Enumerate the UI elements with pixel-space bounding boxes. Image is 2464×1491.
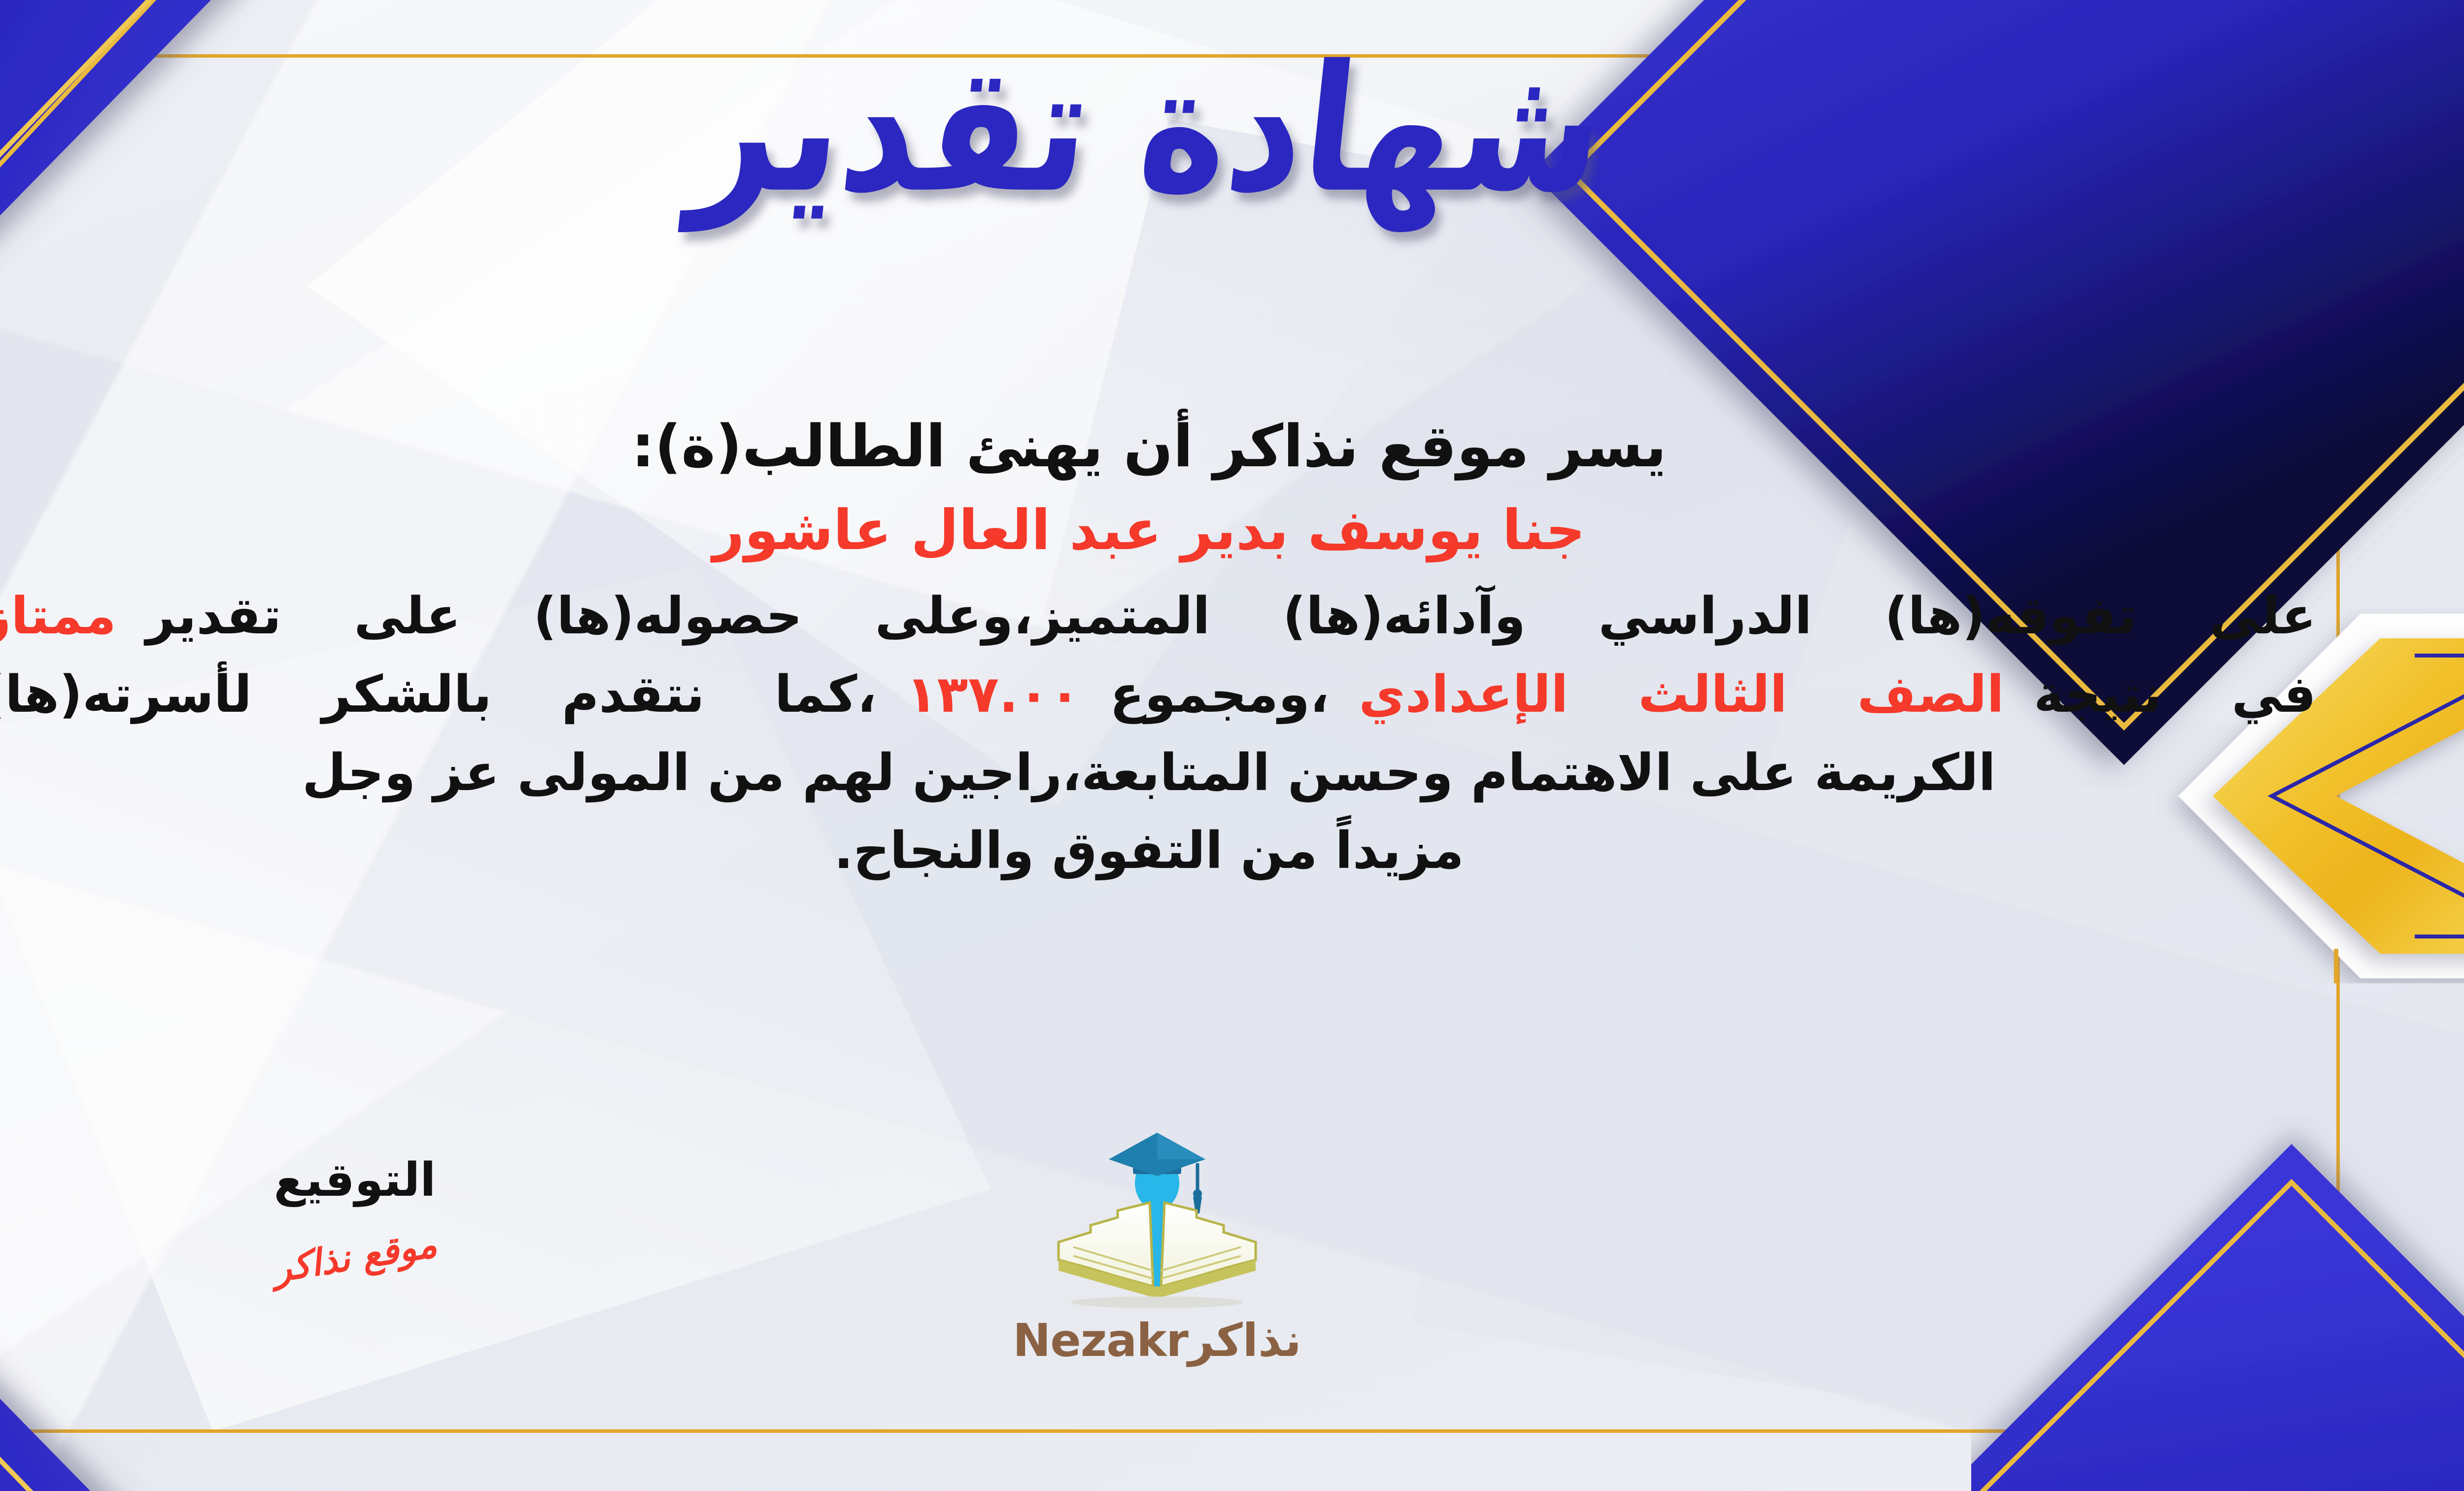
total-score: ١٣٧.٠٠: [906, 665, 1080, 724]
student-name: جنا يوسف بدير عبد العال عاشور: [0, 484, 2316, 577]
grade-label: ممتاز: [0, 587, 116, 646]
paragraph-text-2b: ،ومجموع: [1110, 665, 1329, 724]
paragraph-line-1: على تفوقه(ها) الدراسي وآدائه(ها) المتميز…: [0, 577, 2316, 656]
certificate-page: شهادة تقدير يسر موقع نذاكر أن يهنئ الطال…: [0, 0, 2464, 1491]
paragraph-text-1a: على تفوقه(ها) الدراسي وآدائه(ها) المتميز…: [146, 587, 2316, 646]
signature-label: التوقيع: [197, 1153, 513, 1207]
paragraph-line-2: في نتيجةالصف الثالث الإعدادي،ومجموع١٣٧.٠…: [0, 656, 2316, 734]
brand-logo: نذاكرNezakr: [960, 1129, 1354, 1363]
page-title: شهادة تقدير: [685, 38, 1612, 221]
paragraph-line-3: الكريمة على الاهتمام وحسن المتابعة،راجين…: [0, 734, 2316, 812]
class-name: الصف الثالث الإعدادي: [1359, 665, 2004, 724]
signature-block: التوقيع موقع نذاكر: [197, 1153, 513, 1278]
logo-wordmark: نذاكرNezakr: [960, 1318, 1354, 1363]
paragraph-text-2c: ،كما نتقدم بالشكر لأسرته(ها): [0, 665, 877, 724]
graduation-book-icon: [1044, 1129, 1270, 1316]
paragraph-text-2a: في نتيجة: [2034, 665, 2316, 724]
logo-name-arabic: نذاكر: [1188, 1314, 1301, 1367]
certificate-title-container: شهادة تقدير: [0, 52, 2464, 207]
signature-mark: موقع نذاكر: [270, 1223, 440, 1290]
corner-ornament-bottom-right: [1971, 1116, 2464, 1491]
intro-line: يسر موقع نذاكر أن يهنئ الطالب(ة):: [0, 409, 2316, 484]
logo-name-latin: Nezakr: [1013, 1314, 1188, 1367]
certificate-body: يسر موقع نذاكر أن يهنئ الطالب(ة): جنا يو…: [0, 409, 2316, 890]
paragraph-line-4: مزيداً من التفوق والنجاح.: [0, 812, 2316, 890]
